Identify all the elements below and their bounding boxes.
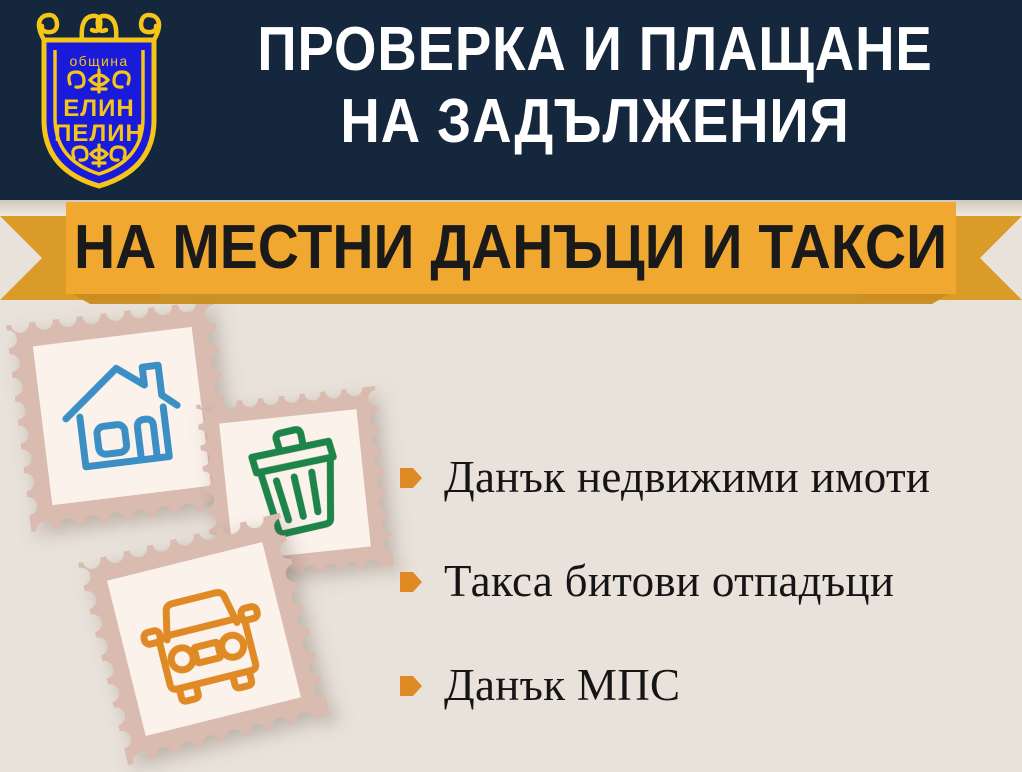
list-item-label: Данък МПС xyxy=(444,661,680,709)
ribbon-text: НА МЕСТНИ ДАНЪЦИ И ТАКСИ xyxy=(74,217,947,279)
bullet-arrow-icon xyxy=(400,569,422,595)
municipality-logo: община ЕЛИН ПЕЛИН xyxy=(26,8,172,190)
list-item[interactable]: Данък МПС xyxy=(400,633,1010,737)
bullet-arrow-icon xyxy=(400,673,422,699)
bullet-arrow-icon xyxy=(400,465,422,491)
ribbon-main: НА МЕСТНИ ДАНЪЦИ И ТАКСИ xyxy=(66,202,956,294)
coat-of-arms-icon: община ЕЛИН ПЕЛИН xyxy=(26,8,172,190)
poster-canvas: ПРОВЕРКА И ПЛАЩАНЕ НА ЗАДЪЛЖЕНИЯ община xyxy=(0,0,1022,772)
logo-text-pelin: ПЕЛИН xyxy=(54,120,144,147)
list-item-label: Такса битови отпадъци xyxy=(444,557,894,605)
logo-text-obshtina: община xyxy=(69,53,128,69)
list-item[interactable]: Данък недвижими имоти xyxy=(400,425,1010,529)
tax-type-list: Данък недвижими имоти Такса битови отпад… xyxy=(400,425,1010,737)
ribbon-banner: НА МЕСТНИ ДАНЪЦИ И ТАКСИ xyxy=(0,198,1022,310)
logo-text-elin: ЕЛИН xyxy=(63,95,134,122)
list-item[interactable]: Такса битови отпадъци xyxy=(400,529,1010,633)
list-item-label: Данък недвижими имоти xyxy=(444,453,930,501)
page-title: ПРОВЕРКА И ПЛАЩАНЕ НА ЗАДЪЛЖЕНИЯ xyxy=(230,14,960,158)
